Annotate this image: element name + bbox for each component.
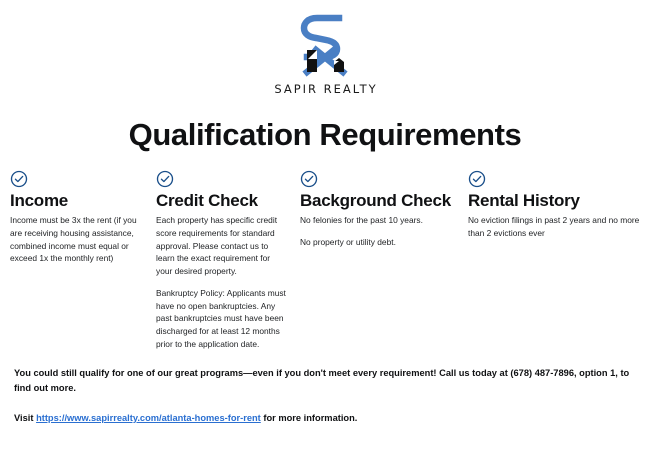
requirement-heading: Credit Check <box>156 191 288 210</box>
requirement-heading: Income <box>10 191 144 210</box>
requirement-column-rental-history: Rental History No eviction filings in pa… <box>464 170 650 240</box>
requirement-column-background-check: Background Check No felonies for the pas… <box>296 170 464 249</box>
requirement-text: No eviction filings in past 2 years and … <box>468 214 642 240</box>
requirement-text: No felonies for the past 10 years. <box>300 214 456 227</box>
page-title: Qualification Requirements <box>0 117 650 153</box>
qualify-callout: You could still qualify for one of our g… <box>14 366 632 396</box>
requirement-heading: Background Check <box>300 191 456 210</box>
check-circle-icon <box>156 170 174 188</box>
requirement-heading: Rental History <box>468 191 642 210</box>
requirement-text: Income must be 3x the rent (if you are r… <box>10 214 144 265</box>
requirement-column-credit-check: Credit Check Each property has specific … <box>152 170 296 351</box>
website-link[interactable]: https://www.sapirrealty.com/atlanta-home… <box>36 413 261 423</box>
brand-wordmark: SAPIR REALTY <box>272 82 377 96</box>
requirements-columns: Income Income must be 3x the rent (if yo… <box>0 170 650 351</box>
visit-prefix: Visit <box>14 413 36 423</box>
sapir-sr-monogram-icon <box>277 10 373 84</box>
brand-logo-block: SAPIR REALTY <box>0 0 650 108</box>
requirement-text-debt: No property or utility debt. <box>300 236 456 249</box>
requirement-column-income: Income Income must be 3x the rent (if yo… <box>0 170 152 265</box>
requirement-text: Each property has specific credit score … <box>156 214 288 278</box>
visit-line: Visit https://www.sapirrealty.com/atlant… <box>14 411 632 426</box>
check-circle-icon <box>300 170 318 188</box>
visit-suffix: for more information. <box>261 413 358 423</box>
check-circle-icon <box>468 170 486 188</box>
check-circle-icon <box>10 170 28 188</box>
requirement-text-bankruptcy: Bankruptcy Policy: Applicants must have … <box>156 287 288 351</box>
